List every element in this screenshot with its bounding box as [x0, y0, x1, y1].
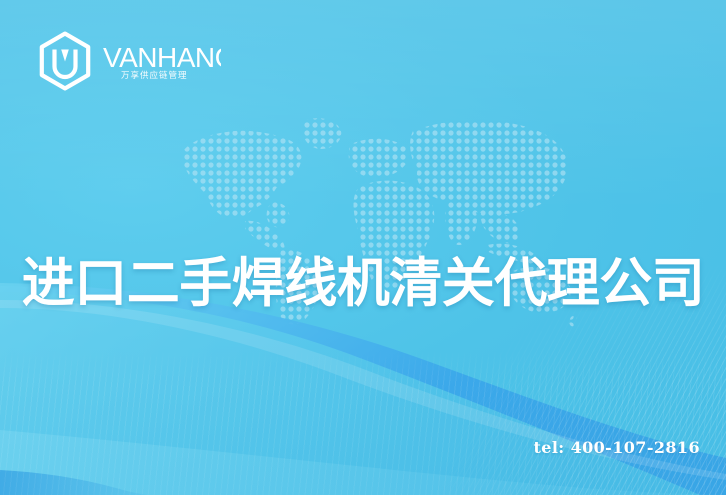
brand-wordmark: VANHANG 万享供应链管理 [103, 40, 221, 82]
contact-phone[interactable]: tel: 400-107-2816 [533, 438, 700, 457]
hexagon-v-mark-icon [36, 31, 94, 91]
wordmark-sub-text: 万享供应链管理 [121, 70, 188, 81]
page-title: 进口二手焊线机清关代理公司 [0, 251, 726, 317]
wordmark-text: VANHANG [103, 42, 221, 73]
brand-logo[interactable]: VANHANG 万享供应链管理 [36, 31, 221, 91]
promo-banner: VANHANG 万享供应链管理 进口二手焊线机清关代理公司 tel: 400-1… [0, 0, 726, 495]
